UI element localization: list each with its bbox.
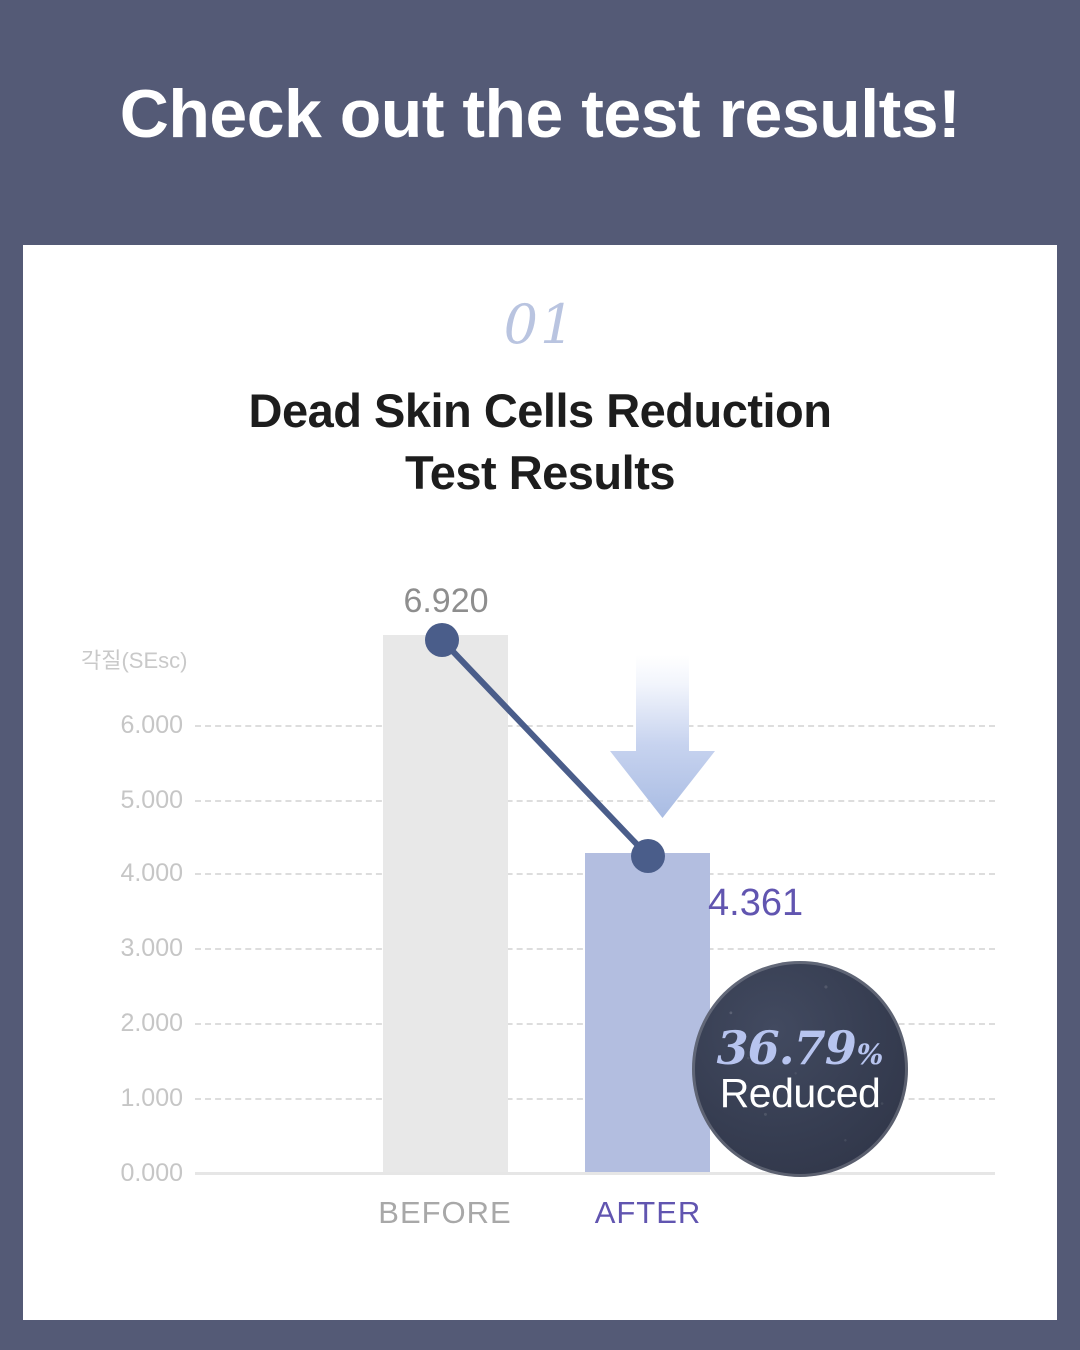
y-tick-label-2000: 2.000 [63, 1009, 183, 1038]
y-tick-label-0000: 0.000 [63, 1159, 183, 1188]
bar-value-before: 6.920 [336, 582, 556, 621]
reduction-badge: 36.79 % Reduced [692, 961, 908, 1177]
bar-before[interactable] [383, 635, 508, 1172]
x-axis-label-after: AFTER [518, 1195, 778, 1231]
y-tick-label-3000: 3.000 [63, 934, 183, 963]
bar-value-after: 4.361 [708, 882, 908, 925]
y-axis-unit-label: 각질(SEsc) [81, 643, 187, 675]
page-title: Check out the test results! [120, 80, 960, 148]
badge-percent-sign: % [857, 1041, 884, 1069]
badge-text-wrap: 36.79 % Reduced [692, 961, 908, 1177]
badge-percent-value: 36.79 [717, 1025, 856, 1071]
header-banner: Check out the test results! [0, 0, 1080, 228]
badge-reduced-label: Reduced [720, 1073, 881, 1114]
bar-chart: 각질(SEsc) 6.000 5.000 4.000 3.000 2.000 1… [23, 245, 1057, 1320]
y-tick-label-4000: 4.000 [63, 859, 183, 888]
down-arrow-icon [610, 655, 715, 818]
y-tick-label-6000: 6.000 [63, 711, 183, 740]
y-tick-label-1000: 1.000 [63, 1084, 183, 1113]
gridline-5000 [195, 800, 995, 802]
result-card: 01 Dead Skin Cells Reduction Test Result… [23, 245, 1057, 1320]
y-tick-label-5000: 5.000 [63, 786, 183, 815]
gridline-6000 [195, 725, 995, 727]
badge-percent-row: 36.79 % [717, 1025, 884, 1071]
